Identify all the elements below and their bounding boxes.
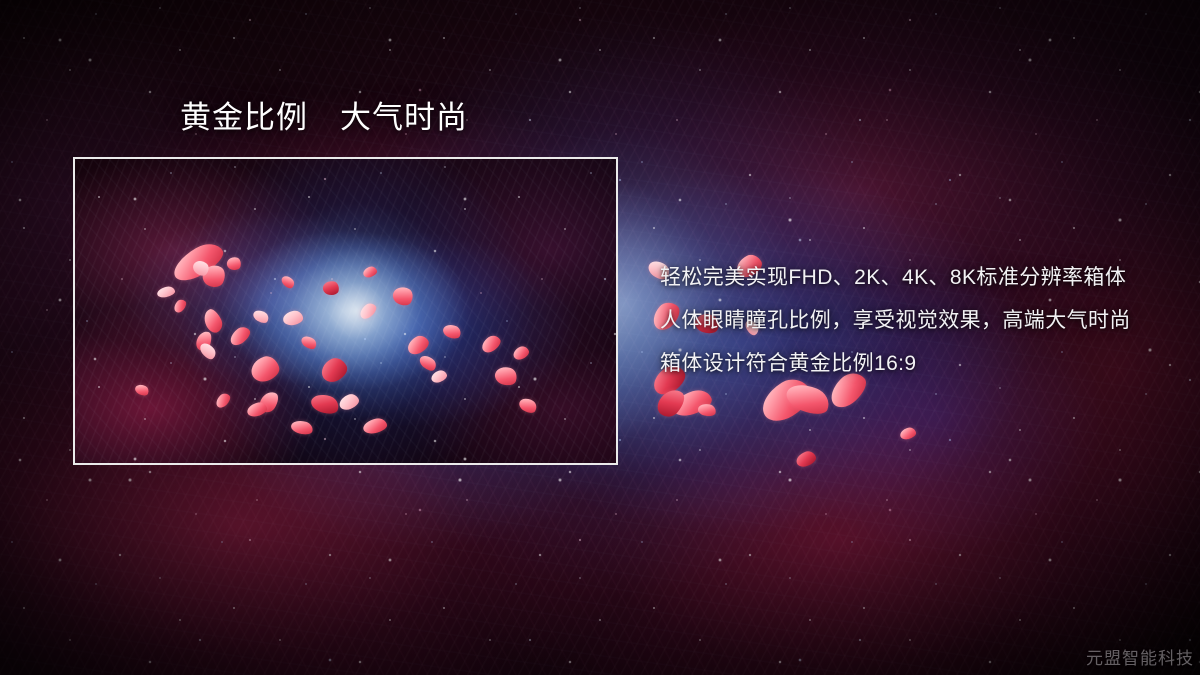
page-title: 黄金比例 大气时尚 bbox=[180, 101, 468, 134]
body-line: 轻松完美实现FHD、2K、4K、8K标准分辨率箱体 bbox=[660, 256, 1131, 299]
body-text-block: 轻松完美实现FHD、2K、4K、8K标准分辨率箱体 人体眼睛瞳孔比例，享受视觉效… bbox=[660, 256, 1131, 385]
body-line: 箱体设计符合黄金比例16:9 bbox=[660, 342, 1131, 385]
frame-nebula-wisps bbox=[75, 159, 616, 463]
body-line: 人体眼睛瞳孔比例，享受视觉效果，高端大气时尚 bbox=[660, 299, 1131, 342]
slide-canvas: 黄金比例 大气时尚 轻松完美实现FHD、2K、4K、8K标准分辨率箱体 人体眼睛… bbox=[0, 0, 1200, 675]
image-frame[interactable] bbox=[73, 157, 618, 465]
watermark: 元盟智能科技 bbox=[1086, 644, 1194, 669]
